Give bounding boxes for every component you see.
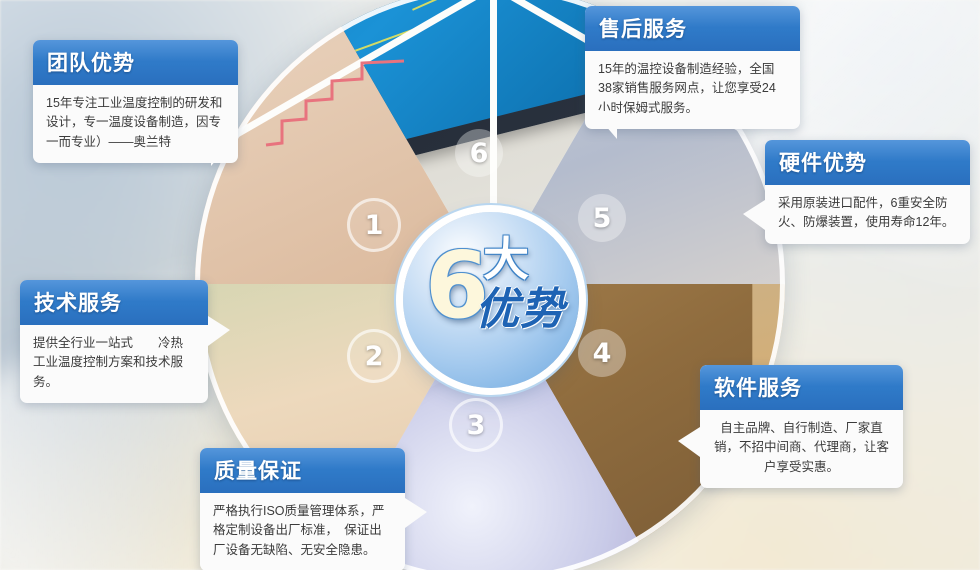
card-technical-service-body: 提供全行业一站式 冷热工业温度控制方案和技术服务。 <box>20 325 208 403</box>
card-after-sales-service-body: 15年的温控设备制造经验，全国38家销售服务网点，让您享受24小时保姆式服务。 <box>585 51 800 129</box>
card-hardware-advantage-title: 硬件优势 <box>765 140 970 185</box>
card-technical-service-tail <box>208 316 230 346</box>
segment-number-4[interactable]: 4 <box>578 329 626 377</box>
card-quality-guarantee[interactable]: 质量保证 严格执行ISO质量管理体系，严格定制设备出厂标准， 保证出厂设备无缺陷… <box>200 448 405 570</box>
card-team-advantage[interactable]: 团队优势 15年专注工业温度控制的研发和设计，专一温度设备制造，因专一而专业）—… <box>33 40 238 163</box>
card-hardware-advantage[interactable]: 硬件优势 采用原装进口配件，6重安全防火、防爆装置，使用寿命12年。 <box>765 140 970 244</box>
card-after-sales-service-title: 售后服务 <box>585 6 800 51</box>
center-advantage-label: 优势 <box>475 288 565 332</box>
card-hardware-advantage-body: 采用原装进口配件，6重安全防火、防爆装置，使用寿命12年。 <box>765 185 970 244</box>
card-team-advantage-tail <box>211 136 237 166</box>
segment-number-6[interactable]: 6 <box>455 129 503 177</box>
card-technical-service[interactable]: 技术服务 提供全行业一站式 冷热工业温度控制方案和技术服务。 <box>20 280 208 403</box>
red-growth-chart-icon <box>262 55 422 150</box>
card-software-service-tail <box>678 427 700 457</box>
card-software-service[interactable]: 软件服务 自主品牌、自行制造、厂家直销，不招中间商、代理商，让客户享受实惠。 <box>700 365 903 488</box>
card-quality-guarantee-body: 严格执行ISO质量管理体系，严格定制设备出厂标准， 保证出厂设备无缺陷、无安全隐… <box>200 493 405 570</box>
center-badge: 6 大 优势 <box>403 212 579 388</box>
card-team-advantage-body: 15年专注工业温度控制的研发和设计，专一温度设备制造，因专一而专业）——奥兰特 <box>33 85 238 163</box>
center-unit-label: 大 <box>483 236 529 282</box>
infographic-canvas: 6 大 优势 1 2 3 4 5 6 团队优势 15年专注工业温度控制的研发和设… <box>0 0 980 570</box>
card-quality-guarantee-tail <box>405 498 427 528</box>
segment-number-1[interactable]: 1 <box>347 198 401 252</box>
card-team-advantage-title: 团队优势 <box>33 40 238 85</box>
segment-number-2[interactable]: 2 <box>347 329 401 383</box>
card-after-sales-service[interactable]: 售后服务 15年的温控设备制造经验，全国38家销售服务网点，让您享受24小时保姆… <box>585 6 800 129</box>
card-software-service-title: 软件服务 <box>700 365 903 410</box>
segment-number-3[interactable]: 3 <box>449 398 503 452</box>
card-technical-service-title: 技术服务 <box>20 280 208 325</box>
card-hardware-advantage-tail <box>743 200 765 230</box>
segment-number-5[interactable]: 5 <box>578 194 626 242</box>
card-quality-guarantee-title: 质量保证 <box>200 448 405 493</box>
card-software-service-body: 自主品牌、自行制造、厂家直销，不招中间商、代理商，让客户享受实惠。 <box>700 410 903 488</box>
card-after-sales-service-tail <box>593 111 617 139</box>
